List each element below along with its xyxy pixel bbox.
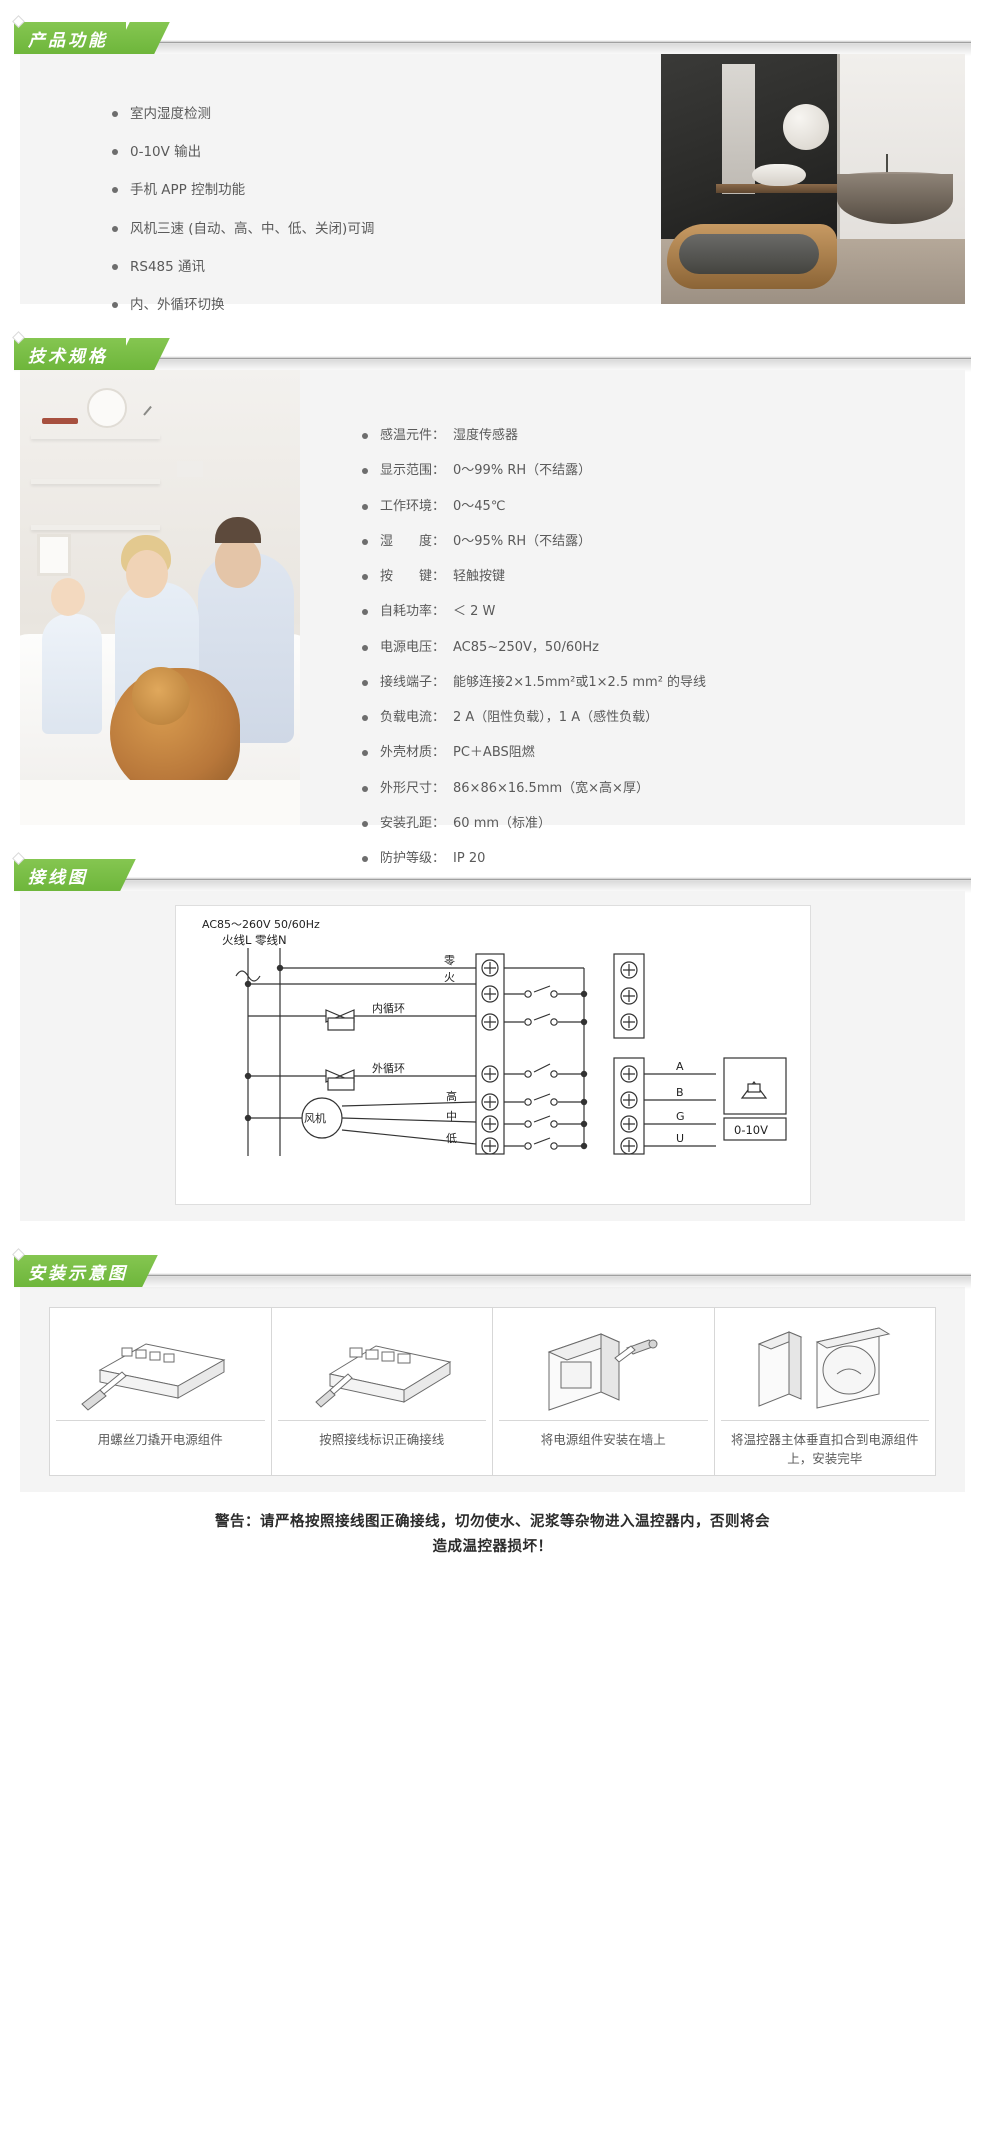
- spec-row: 电源电压：AC85~250V，50/60Hz: [362, 640, 965, 656]
- install-step-1: 用螺丝刀撬开电源组件: [50, 1308, 272, 1475]
- features-banner: 产品功能: [14, 14, 184, 54]
- spec-row: 接线端子：能够连接2×1.5mm²或1×2.5 mm² 的导线: [362, 675, 965, 691]
- bathroom-photo: [661, 54, 965, 304]
- spec-key: 外壳材质：: [380, 745, 445, 761]
- step3-illustration: [499, 1318, 708, 1414]
- specs-banner: 技术规格: [14, 330, 184, 370]
- install-title: 安装示意图: [28, 1259, 128, 1284]
- step2-caption: 按照接线标识正确接线: [278, 1420, 487, 1448]
- step1-illustration: [56, 1318, 265, 1414]
- spec-key: 感温元件：: [380, 428, 445, 444]
- install-step-3: 将电源组件安装在墙上: [493, 1308, 715, 1475]
- supply-label-1: AC85～260V 50/60Hz: [202, 918, 320, 931]
- spec-value: ＜ 2 W: [453, 604, 495, 619]
- label-mid: 中: [446, 1110, 457, 1123]
- spec-value: 能够连接2×1.5mm²或1×2.5 mm² 的导线: [453, 675, 706, 690]
- spec-value: 0～45℃: [453, 499, 505, 514]
- spec-key: 工作环境：: [380, 499, 445, 515]
- label-low: 低: [446, 1132, 457, 1145]
- label-outer-loop: 外循环: [372, 1062, 405, 1075]
- spec-value: AC85~250V，50/60Hz: [453, 640, 599, 655]
- snap-on-thermostat-icon: [725, 1318, 925, 1414]
- label-l: 火: [444, 971, 455, 984]
- supply-label-2: 火线L 零线N: [222, 933, 287, 947]
- wiring-diagram: AC85～260V 50/60Hz 火线L 零线N 零 火: [175, 905, 811, 1205]
- spec-key: 按 键：: [380, 569, 445, 585]
- label-g: G: [676, 1110, 685, 1123]
- section-header-specs: 技术规格: [0, 330, 985, 370]
- warning-line-1: 警告：请严格按照接线图正确接线，切勿使水、泥浆等杂物进入温控器内，否则将会: [43, 1510, 943, 1535]
- label-n: 零: [444, 954, 455, 967]
- spec-row: 负载电流：2 A（阻性负载），1 A（感性负载）: [362, 710, 965, 726]
- features-title: 产品功能: [28, 26, 108, 51]
- label-fan: 风机: [304, 1111, 326, 1125]
- spec-key: 湿 度：: [380, 534, 445, 550]
- label-high: 高: [446, 1089, 457, 1103]
- spec-key: 接线端子：: [380, 675, 445, 691]
- label-inner-loop: 内循环: [372, 1001, 405, 1015]
- label-u: U: [676, 1132, 684, 1145]
- install-panel: 用螺丝刀撬开电源组件: [20, 1287, 965, 1492]
- wiring-panel: AC85～260V 50/60Hz 火线L 零线N 零 火: [20, 891, 965, 1221]
- label-output: 0-10V: [734, 1123, 768, 1137]
- warning-text: 警告：请严格按照接线图正确接线，切勿使水、泥浆等杂物进入温控器内，否则将会 造成…: [43, 1510, 943, 1561]
- family-photo: [20, 370, 300, 825]
- relay-switches: [504, 986, 584, 1149]
- specs-panel: 感温元件：湿度传感器 显示范围：0～99% RH（不结露） 工作环境：0～45℃…: [20, 370, 965, 825]
- spec-key: 安装孔距：: [380, 816, 445, 832]
- install-step-4: 将温控器主体垂直扣合到电源组件上，安装完毕: [715, 1308, 936, 1475]
- label-a: A: [676, 1060, 684, 1073]
- terminal-screws-right-top: [621, 962, 637, 1030]
- install-steps-row: 用螺丝刀撬开电源组件: [49, 1307, 936, 1476]
- spec-row: 感温元件：湿度传感器: [362, 428, 965, 444]
- spec-row: 自耗功率：＜ 2 W: [362, 604, 965, 620]
- step4-illustration: [721, 1318, 930, 1414]
- spec-value: 60 mm（标准）: [453, 816, 551, 831]
- section-header-features: 产品功能: [0, 14, 985, 54]
- features-panel: 室内湿度检测 0-10V 输出 手机 APP 控制功能 风机三速 (自动、高、中…: [20, 54, 965, 304]
- spec-row: 显示范围：0～99% RH（不结露）: [362, 463, 965, 479]
- step2-illustration: [278, 1318, 487, 1414]
- spec-value: 轻触按键: [453, 569, 505, 584]
- spec-value: 2 A（阻性负载），1 A（感性负载）: [453, 710, 658, 725]
- spec-row: 工作环境：0～45℃: [362, 499, 965, 515]
- spec-value: PC＋ABS阻燃: [453, 745, 535, 760]
- step4-caption: 将温控器主体垂直扣合到电源组件上，安装完毕: [721, 1420, 930, 1467]
- wiring-terminals-icon: [282, 1318, 482, 1414]
- living-room-illustration: [20, 370, 300, 825]
- screwdriver-pry-icon: [60, 1318, 260, 1414]
- wall-mount-icon: [503, 1318, 703, 1414]
- step3-caption: 将电源组件安装在墙上: [499, 1420, 708, 1448]
- step1-caption: 用螺丝刀撬开电源组件: [56, 1420, 265, 1448]
- specs-title: 技术规格: [28, 342, 108, 367]
- spec-key: 电源电压：: [380, 640, 445, 656]
- install-step-2: 按照接线标识正确接线: [272, 1308, 494, 1475]
- wiring-title: 接线图: [28, 863, 88, 888]
- spec-key: 外形尺寸：: [380, 781, 445, 797]
- spec-key: 显示范围：: [380, 463, 445, 479]
- warning-line-2: 造成温控器损坏！: [43, 1535, 943, 1560]
- section-header-install: 安装示意图: [0, 1247, 985, 1287]
- wiring-banner: 接线图: [14, 851, 184, 891]
- spec-row: 安装孔距：60 mm（标准）: [362, 816, 965, 832]
- spec-row: 外形尺寸：86×86×16.5mm（宽×高×厚）: [362, 781, 965, 797]
- specs-list: 感温元件：湿度传感器 显示范围：0～99% RH（不结露） 工作环境：0～45℃…: [300, 370, 965, 825]
- spec-value: 0～99% RH（不结露）: [453, 463, 591, 478]
- product-spec-page: 产品功能 室内湿度检测 0-10V 输出 手机 APP 控制功能 风机三速 (自…: [0, 14, 985, 1581]
- wiring-diagram-svg: AC85～260V 50/60Hz 火线L 零线N 零 火: [176, 906, 810, 1204]
- spec-value: 86×86×16.5mm（宽×高×厚）: [453, 781, 649, 796]
- spec-row: 湿 度：0～95% RH（不结露）: [362, 534, 965, 550]
- label-b: B: [676, 1086, 684, 1099]
- spec-value: 湿度传感器: [453, 428, 518, 443]
- spec-value: 0～95% RH（不结露）: [453, 534, 591, 549]
- spec-row: 外壳材质：PC＋ABS阻燃: [362, 745, 965, 761]
- spec-key: 负载电流：: [380, 710, 445, 726]
- section-header-wiring: 接线图: [0, 851, 985, 891]
- bathroom-illustration: [661, 54, 965, 304]
- spec-key: 自耗功率：: [380, 604, 445, 620]
- spec-row: 按 键：轻触按键: [362, 569, 965, 585]
- install-banner: 安装示意图: [14, 1247, 184, 1287]
